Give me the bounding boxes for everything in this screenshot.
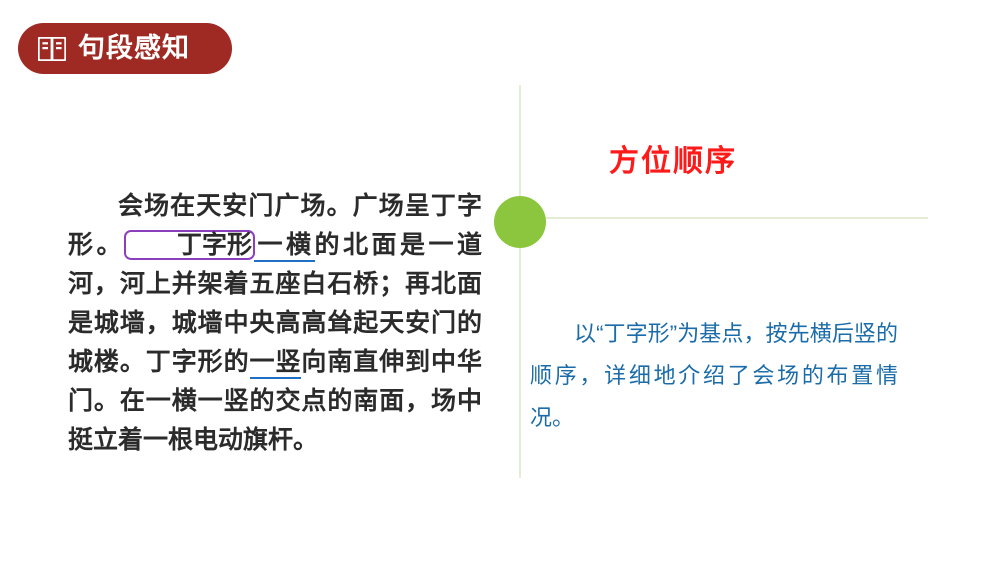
commentary-block: 以“丁字形”为基点，按先横后竖的顺序，详细地介绍了会场的布置情况。 [530, 291, 898, 461]
highlight-box-dingzixing: 丁字形 [124, 230, 255, 260]
section-badge-label: 句段感知 [78, 35, 190, 62]
commentary-text: 以“丁字形”为基点，按先横后竖的顺序，详细地介绍了会场的布置情况。 [530, 313, 898, 439]
divider-dot [494, 196, 546, 248]
underline-yishu: 一竖 [250, 348, 302, 379]
divider-horizontal-line [520, 217, 928, 219]
slide-canvas: 句段感知 会场在天安门广场。广场呈丁字形。丁字形一横的北面是一道河，河上并架着五… [0, 0, 1000, 563]
underline-yiheng: 一横 [254, 231, 314, 262]
passage-text: 会场在天安门广场。广场呈丁字形。丁字形一横的北面是一道河，河上并架着五座白石桥；… [68, 187, 482, 460]
open-book-icon [38, 37, 66, 61]
divider-vertical-line [519, 85, 521, 478]
commentary-title: 方位顺序 [609, 145, 737, 178]
section-badge: 句段感知 [18, 23, 232, 74]
passage-block: 会场在天安门广场。广场呈丁字形。丁字形一横的北面是一道河，河上并架着五座白石桥；… [68, 162, 482, 485]
